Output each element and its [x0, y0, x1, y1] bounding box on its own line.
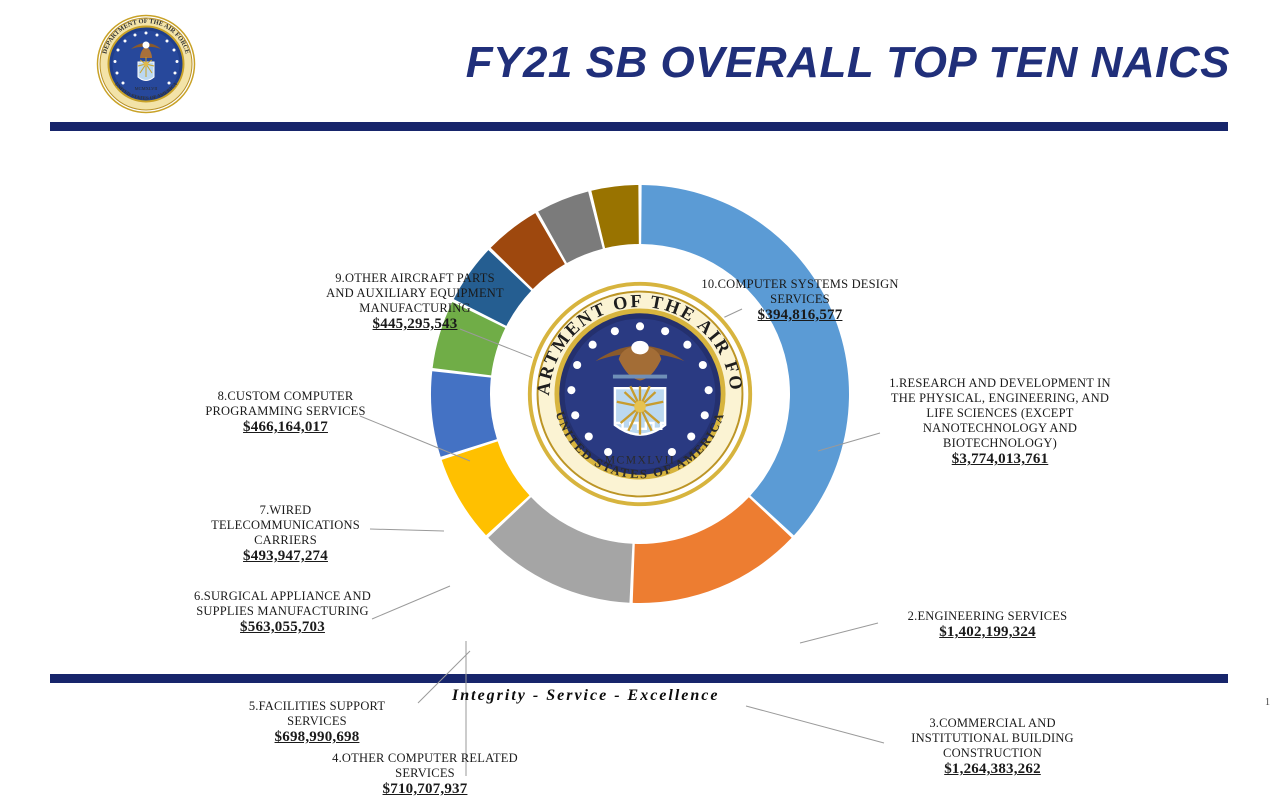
data-label-10-name: 10.COMPUTER SYSTEMS DESIGN SERVICES — [700, 277, 900, 307]
data-label-8-name: 8.CUSTOM COMPUTER PROGRAMMING SERVICES — [198, 389, 373, 419]
data-label-2-amount: $1,402,199,324 — [880, 625, 1095, 640]
data-label-9: 9.OTHER AIRCRAFT PARTS AND AUXILIARY EQU… — [325, 271, 505, 332]
data-label-8-amount: $466,164,017 — [198, 420, 373, 435]
page-number: 1 — [1265, 697, 1270, 708]
footer-divider — [50, 674, 1228, 683]
data-label-10-amount: $394,816,577 — [700, 308, 900, 323]
data-label-7-name: 7.WIRED TELECOMMUNICATIONS CARRIERS — [203, 503, 368, 548]
data-label-5-amount: $698,990,698 — [222, 730, 412, 745]
header-divider — [50, 122, 1228, 131]
svg-text:MCMXLVII: MCMXLVII — [135, 86, 158, 91]
svg-text:MCMXLVII: MCMXLVII — [605, 454, 675, 467]
data-label-1-amount: $3,774,013,761 — [880, 452, 1120, 467]
data-label-3: 3.COMMERCIAL AND INSTITUTIONAL BUILDING … — [890, 716, 1095, 777]
data-label-1-name: 1.RESEARCH AND DEVELOPMENT IN THE PHYSIC… — [880, 376, 1120, 451]
data-label-4: 4.OTHER COMPUTER RELATED SERVICES $710,7… — [325, 751, 525, 797]
slide-canvas: DEPARTMENT OF THE AIR FORCE UNITED STATE… — [0, 0, 1280, 720]
page-title: FY21 SB OVERALL TOP TEN NAICS — [300, 38, 1230, 88]
data-label-5-name: 5.FACILITIES SUPPORT SERVICES — [222, 699, 412, 729]
donut-chart: DEPARTMENT OF THE AIR FORCE UNITED STATE… — [0, 131, 1280, 674]
data-label-3-name: 3.COMMERCIAL AND INSTITUTIONAL BUILDING … — [890, 716, 1095, 761]
data-label-4-amount: $710,707,937 — [325, 782, 525, 797]
data-label-6: 6.SURGICAL APPLIANCE AND SUPPLIES MANUFA… — [190, 589, 375, 635]
data-label-1: 1.RESEARCH AND DEVELOPMENT IN THE PHYSIC… — [880, 376, 1120, 467]
data-label-9-name: 9.OTHER AIRCRAFT PARTS AND AUXILIARY EQU… — [325, 271, 505, 316]
data-label-2: 2.ENGINEERING SERVICES $1,402,199,324 — [880, 609, 1095, 640]
data-label-8: 8.CUSTOM COMPUTER PROGRAMMING SERVICES $… — [198, 389, 373, 435]
data-label-4-name: 4.OTHER COMPUTER RELATED SERVICES — [325, 751, 525, 781]
data-label-6-name: 6.SURGICAL APPLIANCE AND SUPPLIES MANUFA… — [190, 589, 375, 619]
data-label-5: 5.FACILITIES SUPPORT SERVICES $698,990,6… — [222, 699, 412, 745]
donut-slice-2[interactable] — [633, 497, 792, 603]
air-force-seal-header-icon: DEPARTMENT OF THE AIR FORCE UNITED STATE… — [78, 14, 214, 114]
data-label-3-amount: $1,264,383,262 — [890, 762, 1095, 777]
donut-slice-5[interactable] — [431, 371, 497, 457]
data-label-7: 7.WIRED TELECOMMUNICATIONS CARRIERS $493… — [203, 503, 368, 564]
data-label-6-amount: $563,055,703 — [190, 620, 375, 635]
data-label-7-amount: $493,947,274 — [203, 549, 368, 564]
footer-motto: Integrity - Service - Excellence — [452, 687, 720, 705]
data-label-9-amount: $445,295,543 — [325, 317, 505, 332]
data-label-10: 10.COMPUTER SYSTEMS DESIGN SERVICES $394… — [700, 277, 900, 323]
data-label-2-name: 2.ENGINEERING SERVICES — [880, 609, 1095, 624]
